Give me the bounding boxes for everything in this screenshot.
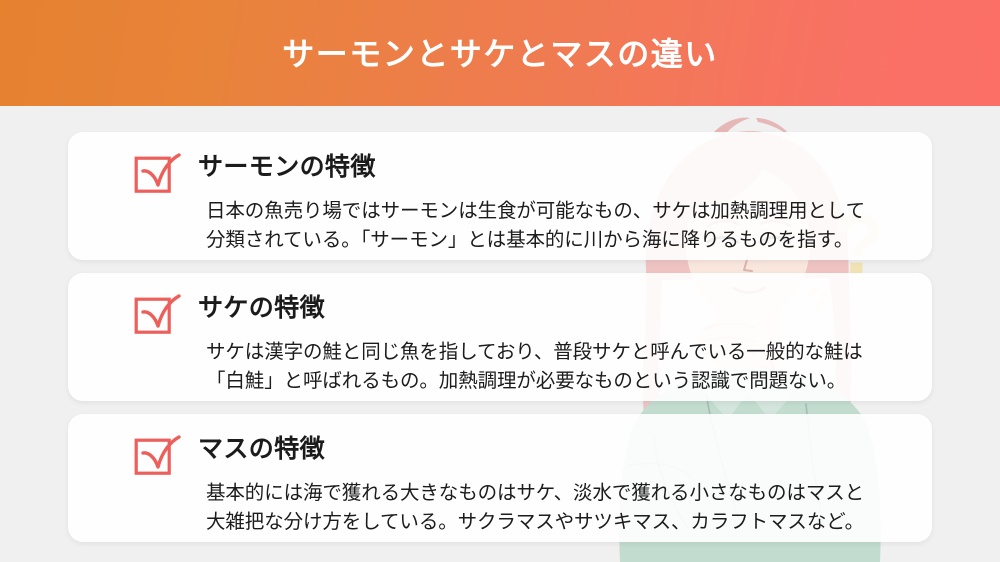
card-body: 日本の魚売り場ではサーモンは生食が可能なもの、サケは加熱調理用として 分類されて… [206, 197, 908, 254]
feature-card-sake: サケの特徴 サケは漢字の鮭と同じ魚を指しており、普段サケと呼んでいる一般的な鮭は… [68, 273, 932, 401]
card-title: サーモンの特徴 [198, 149, 376, 185]
card-header: マスの特徴 [90, 431, 908, 475]
card-header: サケの特徴 [90, 290, 908, 334]
infographic-page: サーモンとサケとマスの違い [0, 0, 1000, 562]
card-body-line: 日本の魚売り場ではサーモンは生食が可能なもの、サケは加熱調理用として [206, 197, 908, 226]
card-body: 基本的には海で獲れる大きなものはサケ、淡水で獲れる小さなものはマスと 大雑把な分… [206, 479, 908, 536]
card-body-line: 基本的には海で獲れる大きなものはサケ、淡水で獲れる小さなものはマスと [206, 479, 908, 508]
card-body-line: 大雑把な分け方をしている。サクラマスやサツキマス、カラフトマスなど。 [206, 508, 908, 537]
page-title: サーモンとサケとマスの違い [282, 38, 718, 70]
card-body-line: 分類されている。「サーモン」とは基本的に川から海に降りるものを指す。 [206, 226, 908, 255]
card-body-line: サケは漢字の鮭と同じ魚を指しており、普段サケと呼んでいる一般的な鮭は [206, 338, 908, 367]
checkbox-checked-icon [134, 152, 182, 196]
card-header: サーモンの特徴 [90, 149, 908, 193]
feature-card-list: サーモンの特徴 日本の魚売り場ではサーモンは生食が可能なもの、サケは加熱調理用と… [68, 132, 932, 542]
card-title: サケの特徴 [198, 290, 325, 326]
feature-card-masu: マスの特徴 基本的には海で獲れる大きなものはサケ、淡水で獲れる小さなものはマスと… [68, 414, 932, 542]
card-body: サケは漢字の鮭と同じ魚を指しており、普段サケと呼んでいる一般的な鮭は 「白鮭」と… [206, 338, 908, 395]
checkbox-checked-icon [134, 293, 182, 337]
feature-card-salmon: サーモンの特徴 日本の魚売り場ではサーモンは生食が可能なもの、サケは加熱調理用と… [68, 132, 932, 260]
header-banner: サーモンとサケとマスの違い [0, 0, 1000, 106]
card-title: マスの特徴 [198, 431, 325, 467]
checkbox-checked-icon [134, 434, 182, 478]
card-body-line: 「白鮭」と呼ばれるもの。加熱調理が必要なものという認識で問題ない。 [206, 367, 908, 396]
